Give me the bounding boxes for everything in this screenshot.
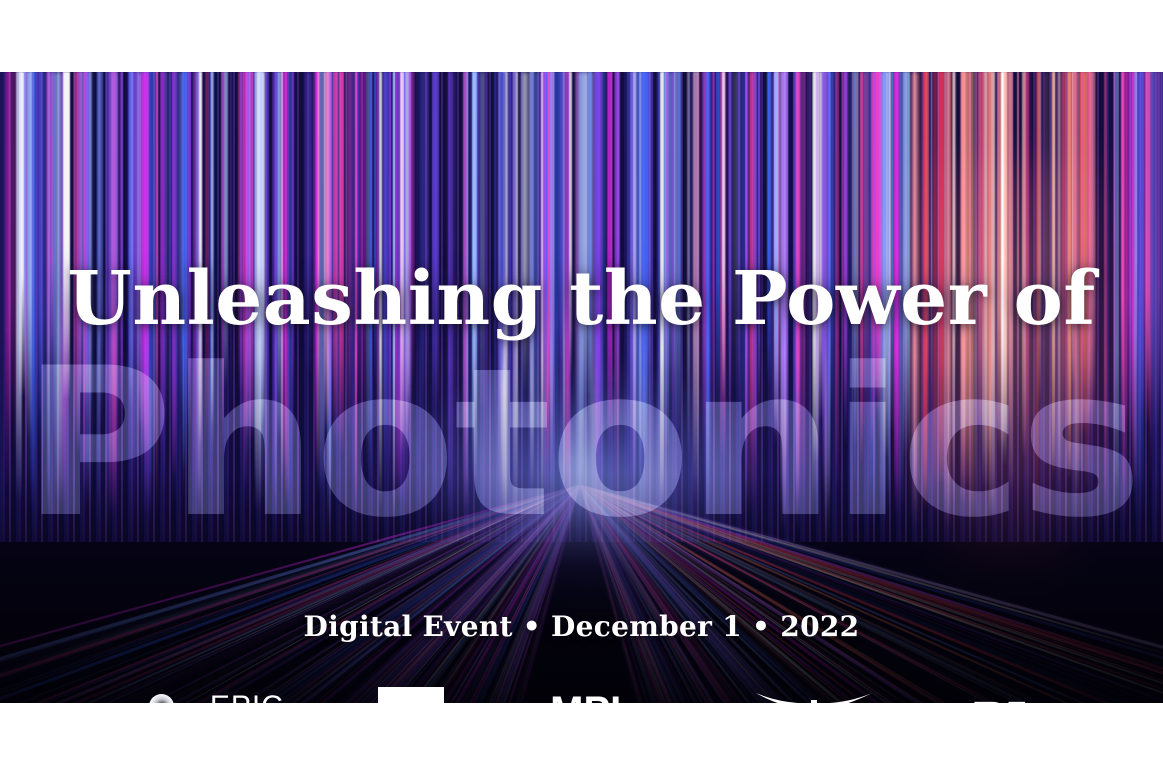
epic-wordmark: EPIC [210, 692, 306, 703]
sponsor-logo-pi[interactable]: PI [972, 698, 1028, 704]
sponsor-logo-transcelestial[interactable]: TRANSCELESTIAL [728, 689, 901, 704]
swept-wing-icon [755, 689, 873, 704]
bottom-vignette [0, 473, 1163, 703]
sponsor-logo-epic[interactable]: EPIC European Photonics Industry Consort… [149, 692, 306, 703]
pi-wordmark: PI [972, 698, 1028, 704]
epic-text-block: EPIC European Photonics Industry Consort… [210, 692, 306, 703]
poster-page: Photonics Photonics Unleashing the Power… [0, 0, 1163, 775]
page-title: Unleashing the Power of [0, 262, 1163, 336]
sponsor-logo-row: EPIC European Photonics Industry Consort… [0, 672, 1163, 703]
mpi-wordmark: MPI [550, 691, 621, 703]
three-spheres-icon [149, 694, 201, 704]
hero-banner: Photonics Photonics Unleashing the Power… [0, 72, 1163, 703]
event-details: Digital Event • December 1 • 2022 [0, 613, 1163, 641]
sponsor-logo-mpi[interactable]: MPI CORPORATION [516, 691, 656, 703]
sponsor-logo-citc[interactable]: CITC [378, 687, 444, 704]
sphere-icon-1 [149, 694, 174, 704]
